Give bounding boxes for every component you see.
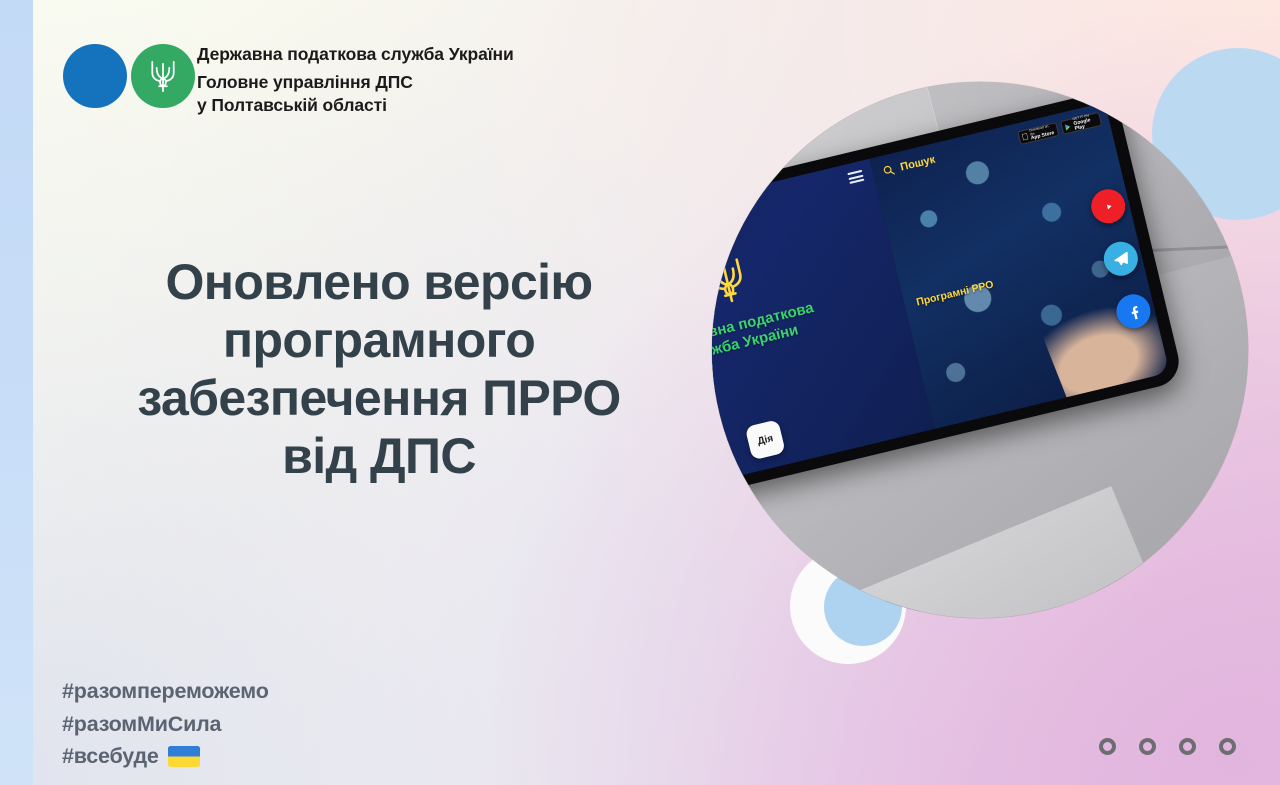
pager-dot-2[interactable] [1139,738,1156,755]
org-line-2: Головне управління ДПС [197,71,514,94]
hashtag-block: #разомпереможемо #разомМиСила #всебуде [62,675,269,773]
organisation-logo-block: Державна податкова служба України Головн… [63,42,514,117]
slide-canvas: Державна податкова служба України Головн… [0,0,1280,785]
hashtag-3: #всебуде [62,740,159,773]
hashtag-2: #разомМиСила [62,708,221,741]
pager-dot-3[interactable] [1179,738,1196,755]
trident-emblem-icon [148,58,178,94]
hashtag-1: #разомпереможемо [62,675,269,708]
facebook-icon [1123,301,1143,321]
search-icon [882,163,896,177]
ukraine-flag-icon [168,746,200,767]
headline-line-3: забезпечення ПРРО [64,369,694,427]
hashtag-2-row: #разомМиСила [62,708,269,741]
app-store-badges[interactable]:  Download on the App Store [1017,112,1102,145]
trident-emblem-icon [712,253,752,309]
appstore-badge[interactable]:  Download on the App Store [1017,122,1059,145]
prro-label: Програмні РРО [915,278,995,308]
laptop-and-phone-photo: ^ control option gov.ua Державні сайти У… [712,82,1248,618]
left-edge-stripe [0,0,33,785]
logo-green-circle-icon [131,44,195,108]
search-label: Пошук [899,154,936,174]
search-button[interactable]: Пошук [882,154,937,178]
logo-blue-circle-icon [63,44,127,108]
hashtag-3-row: #всебуде [62,740,269,773]
headline-line-2: програмного [64,311,694,369]
youtube-icon [1098,196,1118,216]
hashtag-1-row: #разомпереможемо [62,675,269,708]
telegram-icon [1111,249,1131,269]
headline-line-1: Оновлено версію [64,253,694,311]
pager-dots[interactable] [1099,738,1236,755]
page-title: Оновлено версію програмного забезпечення… [64,253,694,485]
pager-dot-4[interactable] [1219,738,1236,755]
googleplay-badge[interactable]: GET IT ON Google Play [1060,112,1102,135]
headline-line-4: від ДПС [64,427,694,485]
organisation-name: Державна податкова служба України Головн… [197,42,514,117]
org-line-3: у Полтавській області [197,94,514,117]
google-play-icon [1064,121,1073,132]
dia-app-badge[interactable]: Дія [745,419,786,460]
pager-dot-1[interactable] [1099,738,1116,755]
org-line-1: Державна податкова служба України [197,43,514,66]
apple-logo-icon:  [1021,132,1030,142]
logo-marks [63,42,197,108]
photo-inner: ^ control option gov.ua Державні сайти У… [712,82,1248,618]
